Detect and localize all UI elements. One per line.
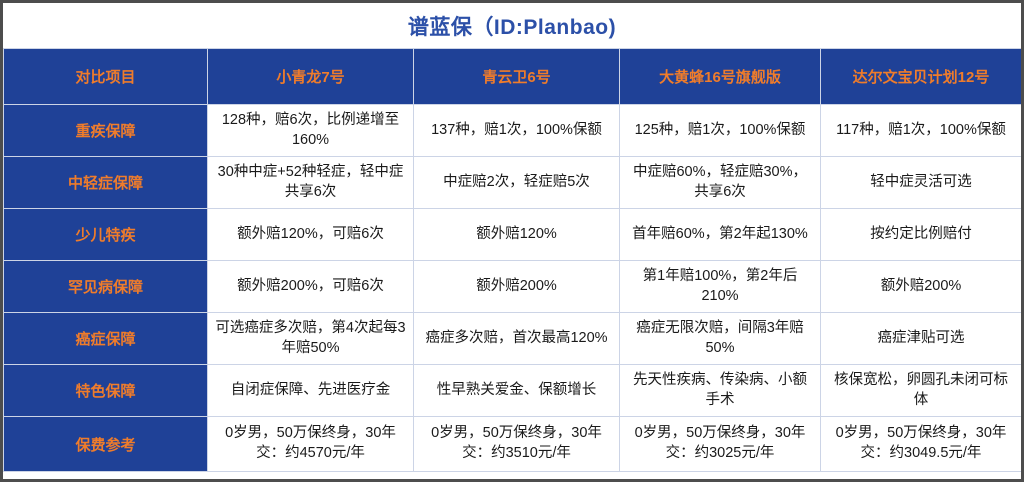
- row-label-special-benefits: 特色保障: [4, 365, 208, 417]
- table-header: 对比项目 小青龙7号 青云卫6号 大黄蜂16号旗舰版 达尔文宝贝计划12号: [4, 49, 1022, 105]
- column-header-product-2: 青云卫6号: [414, 49, 620, 105]
- cell-rare-disease-product-4: 额外赔200%: [821, 261, 1022, 313]
- cell-special-benefits-product-1: 自闭症保障、先进医疗金: [208, 365, 414, 417]
- cell-premium-reference-product-1: 0岁男，50万保终身，30年交：约4570元/年: [208, 417, 414, 472]
- column-header-criteria: 对比项目: [4, 49, 208, 105]
- row-label-child-specific: 少儿特疾: [4, 209, 208, 261]
- cell-child-specific-product-3: 首年赔60%，第2年起130%: [620, 209, 821, 261]
- table-row: 罕见病保障 额外赔200%，可赔6次 额外赔200% 第1年赔100%，第2年后…: [4, 261, 1022, 313]
- table-body: 重疾保障 128种，赔6次，比例递增至160% 137种，赔1次，100%保额 …: [4, 105, 1022, 472]
- cell-child-specific-product-1: 额外赔120%，可赔6次: [208, 209, 414, 261]
- table-row: 癌症保障 可选癌症多次赔，第4次起每3年赔50% 癌症多次赔，首次最高120% …: [4, 313, 1022, 365]
- cell-critical-illness-product-2: 137种，赔1次，100%保额: [414, 105, 620, 157]
- cell-mild-moderate-product-3: 中症赔60%，轻症赔30%，共享6次: [620, 157, 821, 209]
- column-header-product-3: 大黄蜂16号旗舰版: [620, 49, 821, 105]
- product-comparison-table: 对比项目 小青龙7号 青云卫6号 大黄蜂16号旗舰版 达尔文宝贝计划12号 重疾…: [3, 48, 1022, 472]
- table-row: 保费参考 0岁男，50万保终身，30年交：约4570元/年 0岁男，50万保终身…: [4, 417, 1022, 472]
- cell-cancer-product-1: 可选癌症多次赔，第4次起每3年赔50%: [208, 313, 414, 365]
- row-label-mild-moderate: 中轻症保障: [4, 157, 208, 209]
- table-row: 少儿特疾 额外赔120%，可赔6次 额外赔120% 首年赔60%，第2年起130…: [4, 209, 1022, 261]
- row-label-critical-illness: 重疾保障: [4, 105, 208, 157]
- table-row: 中轻症保障 30种中症+52种轻症，轻中症共享6次 中症赔2次，轻症赔5次 中症…: [4, 157, 1022, 209]
- cell-critical-illness-product-1: 128种，赔6次，比例递增至160%: [208, 105, 414, 157]
- cell-critical-illness-product-4: 117种，赔1次，100%保额: [821, 105, 1022, 157]
- table-row: 重疾保障 128种，赔6次，比例递增至160% 137种，赔1次，100%保额 …: [4, 105, 1022, 157]
- cell-special-benefits-product-4: 核保宽松，卵圆孔未闭可标体: [821, 365, 1022, 417]
- cell-special-benefits-product-2: 性早熟关爱金、保额增长: [414, 365, 620, 417]
- cell-premium-reference-product-2: 0岁男，50万保终身，30年交：约3510元/年: [414, 417, 620, 472]
- row-label-premium-reference: 保费参考: [4, 417, 208, 472]
- column-header-product-1: 小青龙7号: [208, 49, 414, 105]
- cell-child-specific-product-4: 按约定比例赔付: [821, 209, 1022, 261]
- cell-cancer-product-3: 癌症无限次赔，间隔3年赔50%: [620, 313, 821, 365]
- cell-premium-reference-product-4: 0岁男，50万保终身，30年交：约3049.5元/年: [821, 417, 1022, 472]
- cell-mild-moderate-product-4: 轻中症灵活可选: [821, 157, 1022, 209]
- card-title-bar: 谱蓝保（ID:Planbao): [3, 3, 1021, 48]
- page-title: 谱蓝保（ID:Planbao): [408, 11, 616, 41]
- cell-mild-moderate-product-2: 中症赔2次，轻症赔5次: [414, 157, 620, 209]
- cell-premium-reference-product-3: 0岁男，50万保终身，30年交：约3025元/年: [620, 417, 821, 472]
- cell-child-specific-product-2: 额外赔120%: [414, 209, 620, 261]
- cell-rare-disease-product-3: 第1年赔100%，第2年后210%: [620, 261, 821, 313]
- cell-rare-disease-product-2: 额外赔200%: [414, 261, 620, 313]
- cell-critical-illness-product-3: 125种，赔1次，100%保额: [620, 105, 821, 157]
- row-label-cancer: 癌症保障: [4, 313, 208, 365]
- cell-rare-disease-product-1: 额外赔200%，可赔6次: [208, 261, 414, 313]
- comparison-table-card: plan 谱蓝 谱蓝保（ID:Planbao) 对比项目 小青龙7号 青云卫6号…: [0, 0, 1024, 482]
- cell-cancer-product-2: 癌症多次赔，首次最高120%: [414, 313, 620, 365]
- table-row: 特色保障 自闭症保障、先进医疗金 性早熟关爱金、保额增长 先天性疾病、传染病、小…: [4, 365, 1022, 417]
- cell-mild-moderate-product-1: 30种中症+52种轻症，轻中症共享6次: [208, 157, 414, 209]
- row-label-rare-disease: 罕见病保障: [4, 261, 208, 313]
- cell-special-benefits-product-3: 先天性疾病、传染病、小额手术: [620, 365, 821, 417]
- table-header-row: 对比项目 小青龙7号 青云卫6号 大黄蜂16号旗舰版 达尔文宝贝计划12号: [4, 49, 1022, 105]
- cell-cancer-product-4: 癌症津贴可选: [821, 313, 1022, 365]
- column-header-product-4: 达尔文宝贝计划12号: [821, 49, 1022, 105]
